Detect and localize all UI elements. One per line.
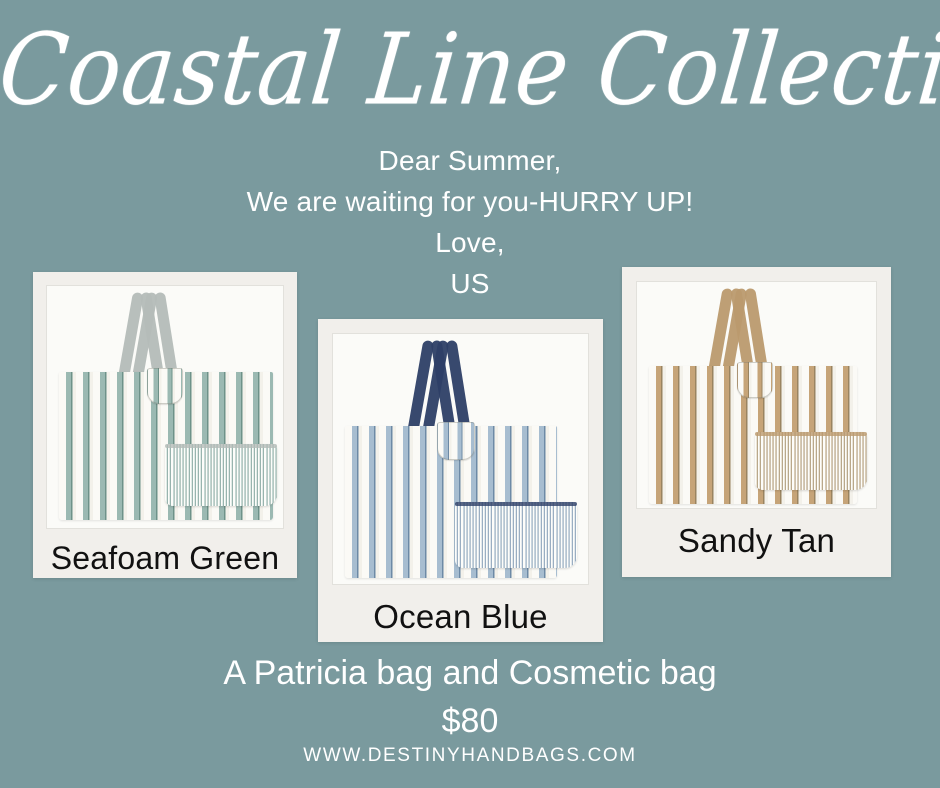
page-title: Coastal Line Collection bbox=[0, 12, 940, 128]
product-photo-ocean-blue bbox=[332, 333, 589, 585]
poster-canvas: Coastal Line Collection Dear Summer, We … bbox=[0, 0, 940, 788]
product-caption: Sandy Tan bbox=[622, 521, 891, 561]
pouch-zipper bbox=[455, 502, 577, 506]
letter-line-2: We are waiting for you-HURRY UP! bbox=[0, 181, 940, 222]
cosmetic-pouch bbox=[755, 432, 867, 490]
product-card-seafoam-green[interactable]: Seafoam Green bbox=[33, 272, 297, 578]
bag-flap bbox=[147, 368, 183, 404]
pouch-zipper bbox=[165, 444, 277, 448]
product-card-sandy-tan[interactable]: Sandy Tan bbox=[622, 267, 891, 577]
pouch-zipper bbox=[755, 432, 867, 436]
bag-flap bbox=[437, 422, 475, 460]
letter-line-1: Dear Summer, bbox=[0, 140, 940, 181]
cosmetic-pouch bbox=[165, 444, 277, 506]
bag-illustration-sandy bbox=[637, 282, 876, 508]
product-photo-sandy-tan bbox=[636, 281, 877, 509]
bag-flap bbox=[737, 362, 773, 398]
product-caption: Seafoam Green bbox=[33, 538, 297, 578]
price-label: $80 bbox=[0, 700, 940, 742]
offer-description: A Patricia bag and Cosmetic bag bbox=[0, 652, 940, 694]
website-url: WWW.DESTINYHANDBAGS.COM bbox=[0, 744, 940, 768]
bag-illustration-seafoam bbox=[47, 286, 283, 528]
cosmetic-pouch bbox=[455, 502, 577, 568]
letter-line-3: Love, bbox=[0, 222, 940, 263]
product-caption: Ocean Blue bbox=[318, 597, 603, 637]
product-photo-seafoam-green bbox=[46, 285, 284, 529]
bag-illustration-ocean bbox=[333, 334, 588, 584]
product-card-ocean-blue[interactable]: Ocean Blue bbox=[318, 319, 603, 642]
